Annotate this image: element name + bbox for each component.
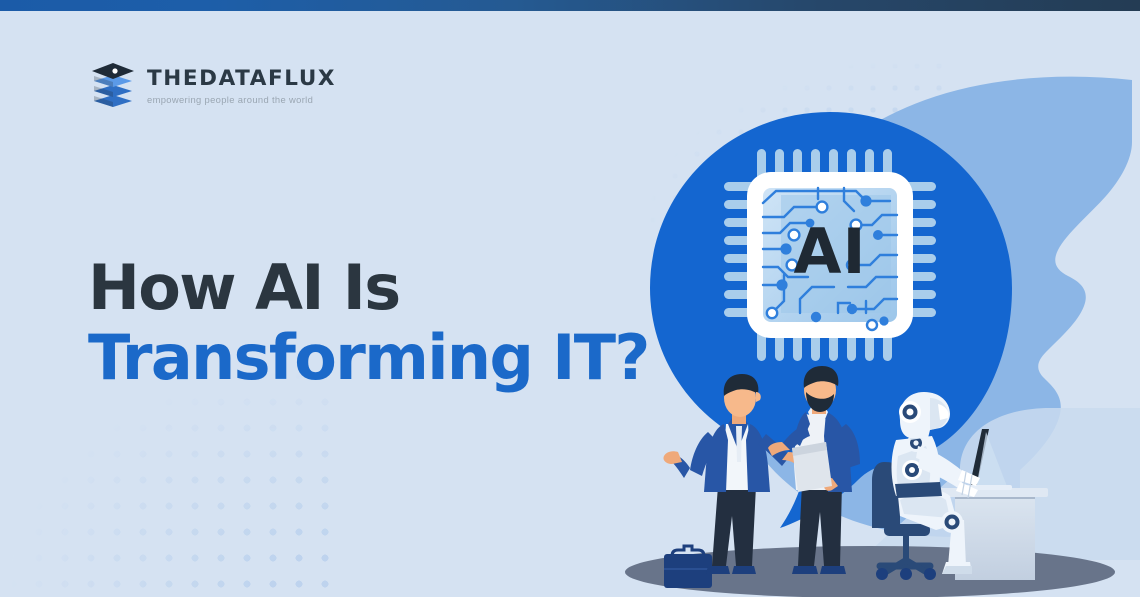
logo-tagline: empowering people around the world [147, 95, 336, 104]
logo-text: THEDATAFLUX empowering people around the… [147, 66, 336, 104]
logo-wordmark: THEDATAFLUX [147, 68, 336, 90]
ai-chip-icon: AI [724, 149, 936, 361]
briefcase [664, 546, 712, 588]
page-title: How AI Is Transforming IT? [88, 253, 649, 393]
stacked-layers-icon [90, 63, 136, 107]
logo[interactable]: THEDATAFLUX empowering people around the… [90, 63, 336, 107]
chip-ai-label: AI [793, 215, 866, 288]
banner-root: AI [0, 0, 1140, 597]
top-accent-bar [0, 0, 1140, 11]
headline-line-1: How AI Is [88, 253, 649, 323]
headline-line-2: Transforming IT? [88, 323, 649, 393]
